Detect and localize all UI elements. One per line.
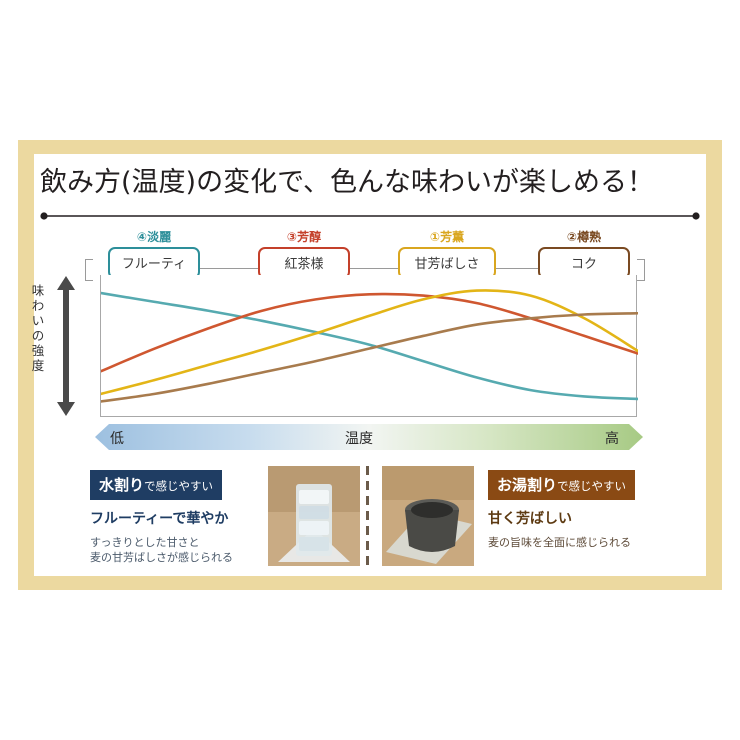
curve-フルーティ: [101, 293, 638, 399]
y-axis-arrow-icon: [56, 276, 76, 421]
flavor-curve-chart: [100, 275, 637, 417]
panel-subtitle-oyuwari: 甘く芳ばしい: [488, 508, 635, 528]
connector-2: [350, 268, 398, 269]
infographic-root: 飲み方(温度)の変化で、色んな味わいが楽しめる！ ④淡麗 フルーティ ③芳醇 紅…: [0, 0, 740, 740]
iced-drink-photo: [268, 466, 360, 566]
panel-header-oyuwari: お湯割りで感じやすい: [488, 470, 635, 500]
panel-header-mizuwari: 水割りで感じやすい: [90, 470, 222, 500]
panel-divider-dashed: [366, 466, 369, 566]
panel-desc-mizuwari-line2: 麦の甘芳ばしさが感じられる: [90, 550, 233, 565]
panel-desc-oyuwari-line1: 麦の旨味を全面に感じられる: [488, 535, 635, 550]
category-fruity[interactable]: ④淡麗 フルーティ: [108, 228, 200, 279]
y-axis-label: 味わいの強度: [30, 283, 46, 373]
panel-header-strong: お湯割り: [497, 476, 557, 494]
panel-header-strong: 水割り: [99, 476, 144, 494]
temp-axis-label: 温度: [345, 428, 373, 448]
category-sweet-aroma[interactable]: ①芳薫 甘芳ばしさ: [398, 228, 496, 279]
connector-bracket-right: [637, 259, 645, 281]
temp-high-label: 高: [605, 428, 619, 448]
title-underline-rule: [40, 208, 700, 218]
category-number-1: ①芳薫: [398, 228, 496, 245]
category-number-4: ④淡麗: [108, 228, 200, 245]
connector-bracket-left: [85, 259, 93, 281]
panel-subtitle-mizuwari: フルーティーで華やか: [90, 508, 233, 528]
category-black-tea[interactable]: ③芳醇 紅茶様: [258, 228, 350, 279]
connector-3: [496, 268, 538, 269]
connector-1: [200, 268, 258, 269]
panel-header-rest: で感じやすい: [144, 479, 213, 493]
panel-mizuwari: 水割りで感じやすい フルーティーで華やか すっきりとした甘さと 麦の甘芳ばしさが…: [90, 470, 233, 565]
category-number-2: ②樽熟: [538, 228, 630, 245]
panel-desc-mizuwari-line1: すっきりとした甘さと: [90, 535, 233, 550]
hot-cup-photo: [382, 466, 474, 566]
curve-lines: [101, 275, 638, 417]
panel-oyuwari: お湯割りで感じやすい 甘く芳ばしい 麦の旨味を全面に感じられる: [488, 470, 635, 550]
page-title: 飲み方(温度)の変化で、色んな味わいが楽しめる！: [40, 160, 700, 199]
panel-header-rest: で感じやすい: [557, 479, 626, 493]
category-number-3: ③芳醇: [258, 228, 350, 245]
category-richness[interactable]: ②樽熟 コク: [538, 228, 630, 279]
temp-low-label: 低: [110, 428, 124, 448]
